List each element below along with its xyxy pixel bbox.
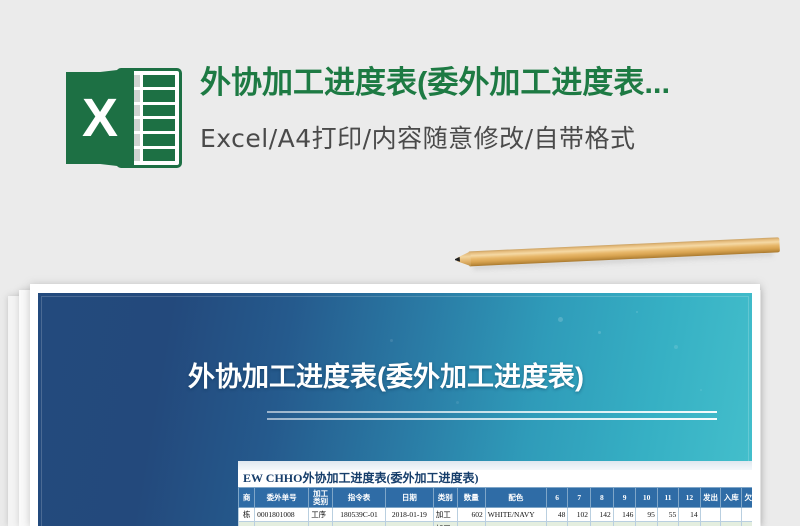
divider-line-bottom — [267, 418, 717, 420]
banner-text-block: 外协加工进度表(委外加工进度表... Excel/A4打印/内容随意修改/自带格… — [200, 62, 800, 157]
cell-shortage[interactable] — [742, 522, 752, 526]
cell-size-9[interactable]: 25 — [613, 522, 636, 526]
cell-process-type[interactable] — [309, 522, 333, 526]
col-header-size-8[interactable]: 8 — [591, 488, 614, 508]
product-banner: X 外协加工进度表(委外加工进度表... Excel/A4打印/内容随意修改/自… — [0, 0, 800, 232]
cell-category[interactable]: 加工 — [433, 508, 457, 522]
preview-cover: 外协加工进度表(委外加工进度表) EW CHHO外协加工进度表(委外加工进度表) — [38, 293, 752, 526]
cell-received[interactable] — [721, 522, 742, 526]
cell-color[interactable]: WHITE/NAVY — [485, 522, 546, 526]
col-header-supplier[interactable]: 商 — [239, 488, 255, 508]
cell-date[interactable]: 2018-01-19 — [385, 522, 433, 526]
cell-color[interactable]: WHITE/NAVY — [485, 508, 546, 522]
cell-size-7[interactable]: 102 — [568, 508, 591, 522]
col-header-color[interactable]: 配色 — [485, 488, 546, 508]
cell-instruction[interactable]: 180539C-01 — [333, 508, 386, 522]
cell-instruction[interactable]: 180539C-02 — [333, 522, 386, 526]
col-header-order-no[interactable]: 委外单号 — [255, 488, 309, 508]
cell-size-6[interactable]: 48 — [546, 508, 567, 522]
cell-sent-out[interactable] — [700, 522, 721, 526]
col-header-sent-out[interactable]: 发出 — [700, 488, 721, 508]
page-title: 外协加工进度表(委外加工进度表... — [200, 62, 800, 104]
cell-sent-out[interactable] — [700, 508, 721, 522]
col-header-size-11[interactable]: 11 — [657, 488, 678, 508]
pencil-decoration — [455, 237, 780, 270]
cell-size-7[interactable]: 23 — [568, 522, 591, 526]
table-row[interactable]: 180539C-02 2018-01-19 加工 203 WHITE/NAVY … — [239, 522, 753, 526]
col-header-quantity[interactable]: 数量 — [457, 488, 485, 508]
col-header-category[interactable]: 类别 — [433, 488, 457, 508]
spreadsheet-top-band — [238, 461, 752, 470]
cell-quantity[interactable]: 203 — [457, 522, 485, 526]
cell-size-10[interactable]: 9 — [636, 522, 657, 526]
bokeh-dot — [674, 345, 678, 349]
cell-size-8[interactable]: 142 — [591, 508, 614, 522]
cell-received[interactable] — [721, 508, 742, 522]
cell-size-8[interactable]: 26 — [591, 522, 614, 526]
col-header-process-type[interactable]: 加工类别 — [309, 488, 333, 508]
preview-cover-title: 外协加工进度表(委外加工进度表) — [38, 355, 752, 394]
cell-supplier[interactable]: 栋 — [239, 508, 255, 522]
cell-quantity[interactable]: 602 — [457, 508, 485, 522]
spreadsheet-title: EW CHHO外协加工进度表(委外加工进度表) — [238, 470, 752, 487]
spreadsheet-table[interactable]: 商 委外单号 加工类别 指令表 日期 类别 数量 配色 6 7 8 9 10 1… — [238, 487, 752, 526]
template-preview-card[interactable]: 外协加工进度表(委外加工进度表) EW CHHO外协加工进度表(委外加工进度表) — [30, 284, 760, 526]
cell-date[interactable]: 2018-01-19 — [385, 508, 433, 522]
col-header-instruction[interactable]: 指令表 — [333, 488, 386, 508]
page-subtitle: Excel/A4打印/内容随意修改/自带格式 — [200, 120, 800, 158]
cell-size-10[interactable]: 95 — [636, 508, 657, 522]
cell-shortage[interactable] — [742, 508, 752, 522]
bokeh-dot — [390, 339, 393, 342]
col-header-size-10[interactable]: 10 — [636, 488, 657, 508]
table-row[interactable]: 栋 0001801008 工序 180539C-01 2018-01-19 加工… — [239, 508, 753, 522]
col-header-date[interactable]: 日期 — [385, 488, 433, 508]
cell-size-11[interactable] — [657, 522, 678, 526]
cell-supplier[interactable] — [239, 522, 255, 526]
cell-size-9[interactable]: 146 — [613, 508, 636, 522]
cell-process-type[interactable]: 工序 — [309, 508, 333, 522]
cell-size-12[interactable]: 14 — [679, 508, 700, 522]
col-header-size-6[interactable]: 6 — [546, 488, 567, 508]
excel-file-icon: X — [66, 68, 182, 168]
col-header-received[interactable]: 入库 — [721, 488, 742, 508]
col-header-size-12[interactable]: 12 — [679, 488, 700, 508]
preview-title-divider — [267, 411, 717, 422]
excel-icon-letter: X — [66, 68, 134, 168]
table-header-row: 商 委外单号 加工类别 指令表 日期 类别 数量 配色 6 7 8 9 10 1… — [239, 488, 753, 508]
cell-order-no[interactable] — [255, 522, 309, 526]
bokeh-dot — [598, 331, 601, 334]
col-header-shortage[interactable]: 欠数 — [742, 488, 752, 508]
divider-line-top — [267, 411, 717, 413]
bokeh-dot — [558, 317, 563, 322]
cell-category[interactable]: 加工 — [433, 522, 457, 526]
cell-size-12[interactable] — [679, 522, 700, 526]
cell-size-6[interactable]: 22 — [546, 522, 567, 526]
cell-size-11[interactable]: 55 — [657, 508, 678, 522]
bokeh-dot — [636, 311, 638, 313]
embedded-spreadsheet[interactable]: EW CHHO外协加工进度表(委外加工进度表) 商 委外单号 加工类别 — [238, 461, 752, 526]
col-header-size-9[interactable]: 9 — [613, 488, 636, 508]
bokeh-dot — [456, 401, 459, 404]
cell-order-no[interactable]: 0001801008 — [255, 508, 309, 522]
col-header-size-7[interactable]: 7 — [568, 488, 591, 508]
